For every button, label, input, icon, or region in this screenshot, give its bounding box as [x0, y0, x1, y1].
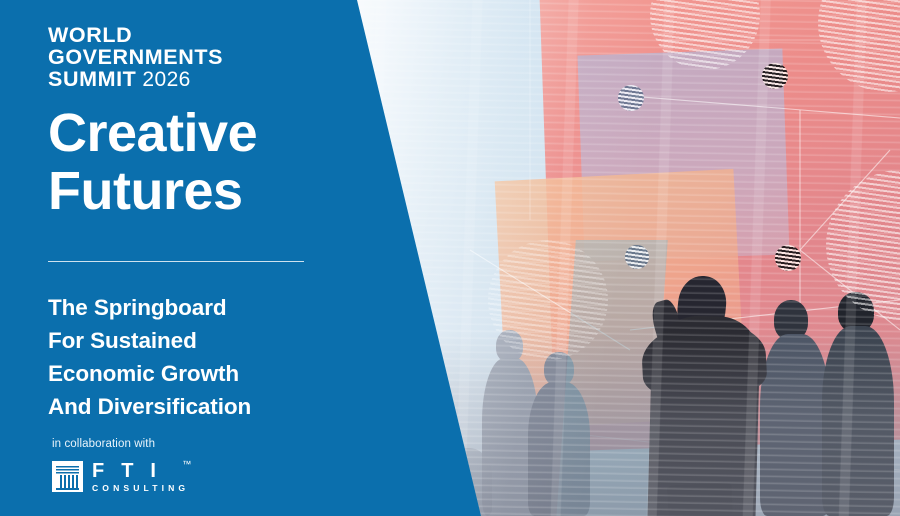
page-title: Creative Futures: [48, 104, 257, 221]
event-banner: WORLD GOVERNMENTS SUMMIT2026 Creative Fu…: [0, 0, 900, 516]
column-shafts: [60, 475, 79, 489]
page-subtitle: The Springboard For Sustained Economic G…: [48, 292, 251, 423]
wgs-logo-year: 2026: [142, 68, 190, 91]
column-entablature: [56, 466, 79, 474]
trademark-icon: ™: [182, 460, 191, 469]
page-subtitle-line-1: The Springboard: [48, 292, 251, 325]
page-subtitle-line-2: For Sustained: [48, 325, 251, 358]
column-base: [56, 488, 79, 490]
collaboration-label: in collaboration with: [52, 438, 155, 450]
page-subtitle-line-4: And Diversification: [48, 391, 251, 424]
page-subtitle-line-3: Economic Growth: [48, 358, 251, 391]
wgs-logo-line-3: SUMMIT2026: [48, 69, 223, 91]
fti-wordmark: FTI ™ CONSULTING: [92, 461, 189, 493]
page-title-line-1: Creative: [48, 104, 257, 162]
banner-content: WORLD GOVERNMENTS SUMMIT2026 Creative Fu…: [48, 0, 348, 516]
classical-column-building-icon: [52, 461, 83, 492]
wgs-logo-line-1: WORLD: [48, 25, 223, 47]
fti-consulting-logo: FTI ™ CONSULTING: [52, 461, 189, 493]
fti-letters: FTI: [92, 461, 189, 481]
wgs-logo-line-2: GOVERNMENTS: [48, 47, 223, 69]
divider-rule: [48, 261, 304, 262]
wgs-logo-summit-text: SUMMIT: [48, 67, 136, 91]
fti-consulting-word: CONSULTING: [92, 484, 189, 493]
page-title-line-2: Futures: [48, 162, 257, 220]
wgs-logo: WORLD GOVERNMENTS SUMMIT2026: [48, 25, 223, 91]
